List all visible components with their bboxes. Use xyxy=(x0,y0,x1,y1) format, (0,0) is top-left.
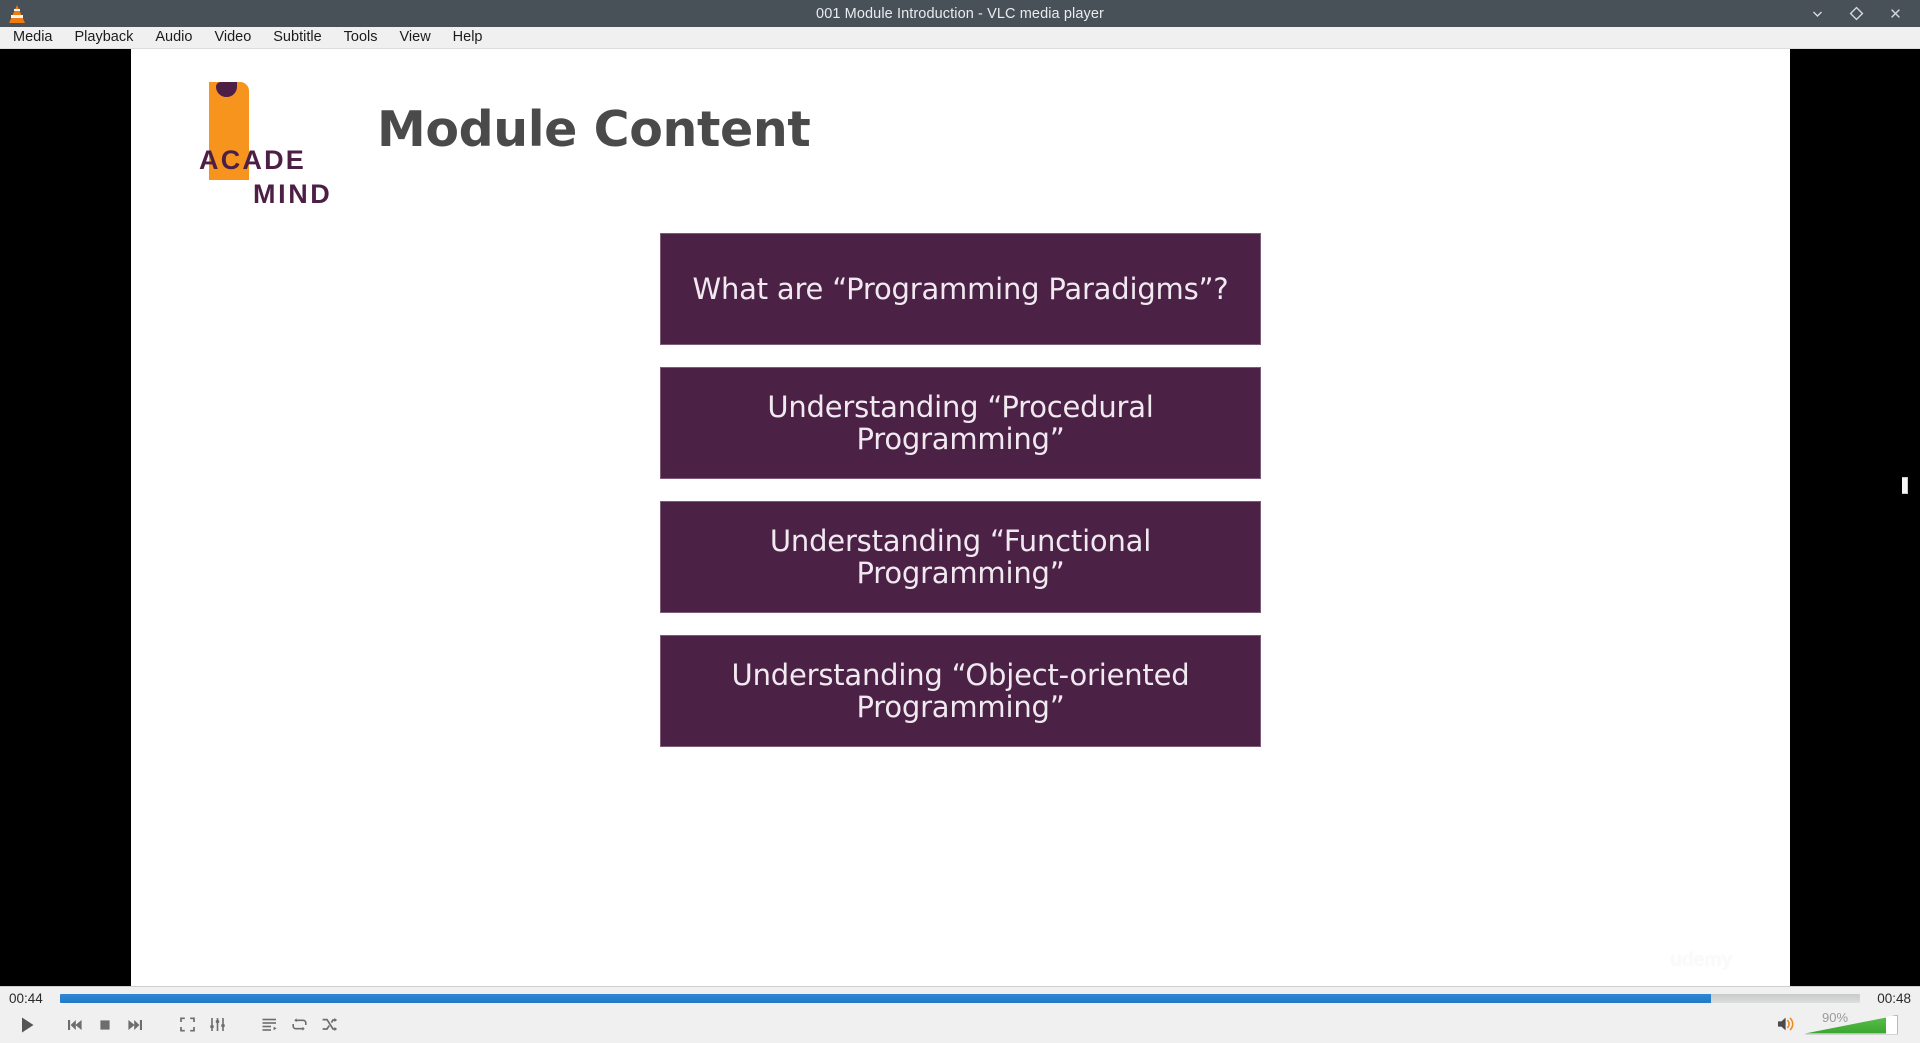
maximize-button[interactable] xyxy=(1848,5,1865,22)
fullscreen-button[interactable] xyxy=(172,1011,202,1038)
slide-title: Module Content xyxy=(377,101,810,158)
next-button[interactable] xyxy=(120,1011,150,1038)
vlc-cone-icon xyxy=(4,3,30,25)
vlc-media-player-window: 001 Module Introduction - VLC media play… xyxy=(0,0,1920,1043)
udemy-watermark: udemy xyxy=(1670,949,1732,972)
extended-settings-button[interactable] xyxy=(202,1011,232,1038)
playlist-button[interactable] xyxy=(254,1011,284,1038)
volume-level-label: 90% xyxy=(1822,1010,1848,1025)
play-button[interactable] xyxy=(8,1010,46,1040)
menu-item-view[interactable]: View xyxy=(389,28,442,48)
logo-text-line2: MIND xyxy=(253,179,332,210)
content-box-item: What are “Programming Paradigms”? xyxy=(660,233,1261,345)
seek-progress-fill xyxy=(60,994,1711,1003)
content-box-label: What are “Programming Paradigms”? xyxy=(692,273,1228,305)
menu-item-video[interactable]: Video xyxy=(203,28,262,48)
content-box-label: Understanding “Functional Programming” xyxy=(687,525,1234,590)
menu-item-playback[interactable]: Playback xyxy=(64,28,145,48)
presentation-slide: ACADE MIND Module Content What are “Prog… xyxy=(131,49,1790,986)
video-display-area[interactable]: ACADE MIND Module Content What are “Prog… xyxy=(0,49,1920,986)
close-button[interactable] xyxy=(1887,5,1904,22)
volume-control[interactable]: 90% xyxy=(1775,1013,1912,1037)
speaker-volume-icon[interactable] xyxy=(1775,1013,1797,1035)
content-box-item: Understanding “Functional Programming” xyxy=(660,501,1261,613)
content-box-item: Understanding “Object-oriented Programmi… xyxy=(660,635,1261,747)
menu-item-subtitle[interactable]: Subtitle xyxy=(262,28,332,48)
seek-row: 00:44 00:48 xyxy=(0,987,1920,1009)
cursor-artifact xyxy=(1902,477,1908,494)
menu-item-help[interactable]: Help xyxy=(442,28,494,48)
stop-button[interactable] xyxy=(90,1011,120,1038)
window-title: 001 Module Introduction - VLC media play… xyxy=(0,6,1920,22)
title-bar: 001 Module Introduction - VLC media play… xyxy=(0,0,1920,27)
window-controls xyxy=(1809,5,1920,22)
minimize-button[interactable] xyxy=(1809,5,1826,22)
menu-item-tools[interactable]: Tools xyxy=(333,28,389,48)
content-box-list: What are “Programming Paradigms”? Unders… xyxy=(131,233,1790,747)
seek-slider[interactable] xyxy=(60,994,1860,1003)
menu-item-audio[interactable]: Audio xyxy=(144,28,203,48)
content-box-label: Understanding “Object-oriented Programmi… xyxy=(687,659,1234,724)
academind-logo: ACADE MIND xyxy=(181,82,356,202)
shuffle-button[interactable] xyxy=(314,1011,344,1038)
total-time-label: 00:48 xyxy=(1869,991,1911,1006)
menu-bar: Media Playback Audio Video Subtitle Tool… xyxy=(0,27,1920,49)
content-box-item: Understanding “Procedural Programming” xyxy=(660,367,1261,479)
loop-button[interactable] xyxy=(284,1011,314,1038)
content-box-label: Understanding “Procedural Programming” xyxy=(687,391,1234,456)
menu-item-media[interactable]: Media xyxy=(2,28,64,48)
elapsed-time-label: 00:44 xyxy=(9,991,51,1006)
previous-button[interactable] xyxy=(60,1011,90,1038)
volume-slider[interactable]: 90% xyxy=(1804,1013,1898,1035)
player-control-bar: 00:44 00:48 xyxy=(0,986,1920,1043)
transport-buttons-row: 90% xyxy=(0,1009,1920,1043)
logo-text-line1: ACADE xyxy=(199,145,306,176)
